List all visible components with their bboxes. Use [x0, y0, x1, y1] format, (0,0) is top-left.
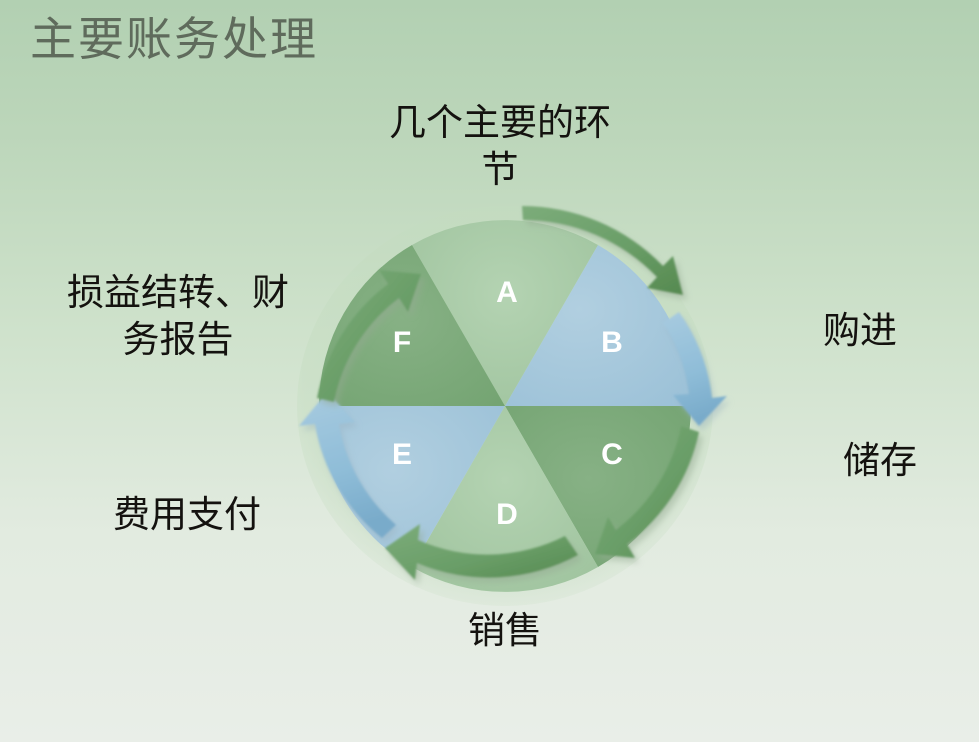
cycle-label-b: 购进 — [770, 308, 950, 355]
slide-canvas: { "slide": { "title": "主要账务处理", "title_c… — [0, 0, 979, 742]
segment-c-letter: C — [601, 438, 623, 471]
segment-a-letter: A — [496, 276, 518, 309]
cycle-label-c: 储存 — [790, 438, 970, 485]
segment-d-letter: D — [496, 498, 518, 531]
segment-f-letter: F — [393, 326, 411, 359]
cycle-label-a: 几个主要的环 节 — [335, 100, 665, 195]
page-title: 主要账务处理 — [30, 14, 318, 65]
cycle-diagram: A B C D E F — [275, 192, 735, 622]
segment-e-letter: E — [392, 438, 412, 471]
segment-b-letter: B — [601, 326, 623, 359]
